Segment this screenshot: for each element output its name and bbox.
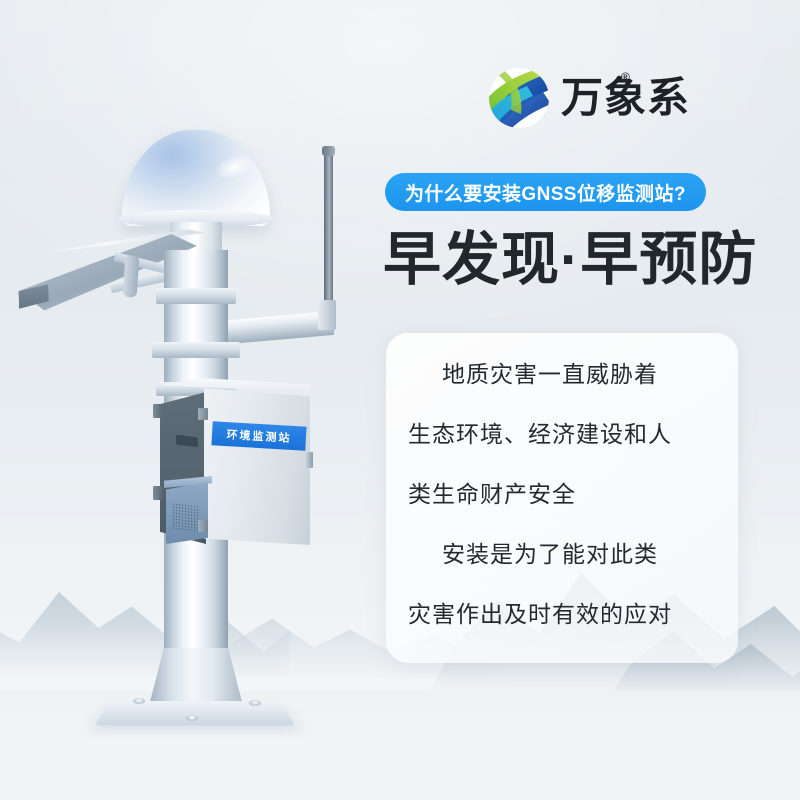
description-line: 生态环境、经济建设和人 [408,423,716,446]
globe-swirl-icon [487,66,551,130]
description-line: 地质灾害一直威胁着 [408,363,716,386]
base-bolt-hole-right [249,700,261,706]
cabinet-hinge-bottom [153,486,162,500]
cabinet-hinge-top [153,404,162,418]
description-line: 灾害作出及时有效的应对 [408,603,716,626]
pole-collar-upper [156,288,236,304]
base-bolt-hole-front [186,715,198,721]
cabinet-tab-bottom [198,520,208,532]
rod-antenna [324,152,333,310]
base-plate [94,701,295,726]
cabinet-latch [306,452,313,468]
cabinet-label-text: 环境监测站 [226,426,292,446]
question-badge[interactable]: 为什么要安装GNSS位移监测站? [385,173,706,211]
page-title: 早发现·早预防 [383,228,757,293]
base-bolt-hole-left [133,698,145,704]
brand-logo: 万象系 [487,66,690,130]
registered-trademark-icon: ® [621,70,630,84]
cabinet-front-door [204,385,310,545]
description-line: 类生命财产安全 [408,483,716,506]
cabinet-tab-top [198,408,208,420]
pole-collar-middle [152,342,240,358]
gnss-monitoring-station: 环境监测站 [0,0,380,800]
cross-arm-bracket [318,300,336,330]
solar-panel-edge [18,284,49,315]
rod-antenna-cap [322,146,335,156]
question-badge-text: 为什么要安装GNSS位移监测站? [405,179,686,206]
product-poster: 环境监测站 [0,0,800,800]
description-line: 安装是为了能对此类 [408,543,716,566]
pole-base-flare [150,648,242,702]
solar-bracket-vertical [123,255,140,298]
description-card: 地质灾害一直威胁着 生态环境、经济建设和人 类生命财产安全 安装是为了能对此类 … [386,333,738,663]
cabinet-mesh-vent [172,502,198,531]
